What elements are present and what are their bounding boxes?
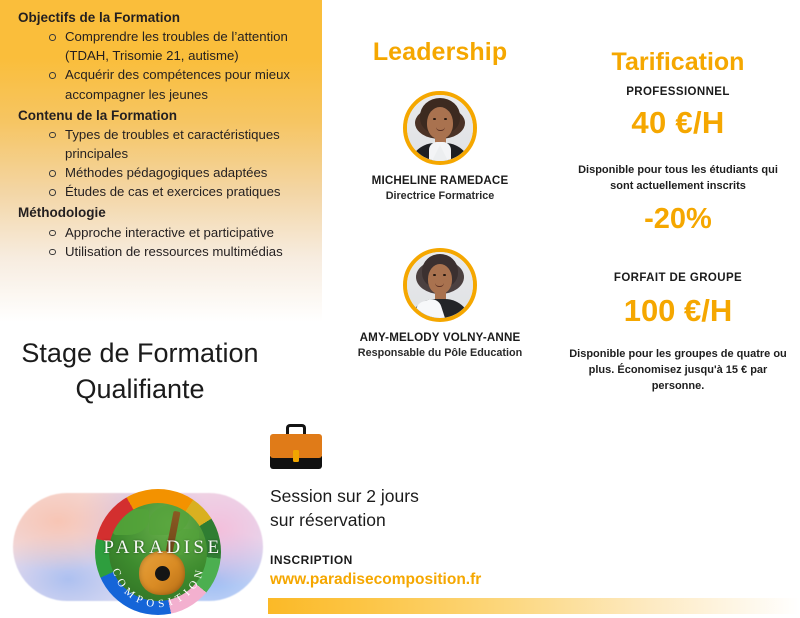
website-link[interactable]: www.paradisecomposition.fr: [270, 571, 530, 589]
session-line-1: Session sur 2 jours: [270, 485, 530, 509]
leadership-person-1: MICHELINE RAMEDACE Directrice Formatrice: [330, 91, 550, 202]
avatar: [403, 91, 477, 165]
section-list-contenu: Types de troubles et caractéristiques pr…: [48, 125, 310, 202]
page-title: Stage de Formation Qualifiante: [0, 336, 280, 408]
avatar: [403, 248, 477, 322]
pricing-tier-1-note: Disponible pour tous les étudiants qui s…: [556, 163, 800, 195]
section-list-methodologie: Approche interactive et participative Ut…: [48, 223, 310, 261]
list-item: Types de troubles et caractéristiques pr…: [48, 125, 310, 163]
section-title-contenu: Contenu de la Formation: [18, 106, 310, 125]
person-role: Responsable du Pôle Education: [330, 347, 550, 359]
briefcase-icon: [270, 424, 322, 471]
pricing-title: Tarification: [556, 48, 800, 77]
list-item: Utilisation de ressources multimédias: [48, 242, 310, 261]
registration-block: Session sur 2 jours sur réservation INSC…: [270, 424, 530, 589]
leadership-title: Leadership: [330, 38, 550, 67]
leadership-person-2: AMY-MELODY VOLNY-ANNE Responsable du Pôl…: [330, 248, 550, 359]
person-name: AMY-MELODY VOLNY-ANNE: [330, 331, 550, 344]
program-details-panel: Objectifs de la Formation Comprendre les…: [0, 0, 322, 322]
paradise-composition-logo: COMPOSITION PARADISE: [13, 489, 263, 607]
list-item: Approche interactive et participative: [48, 223, 310, 242]
footer-accent-bar: [268, 598, 800, 614]
person-role: Directrice Formatrice: [330, 190, 550, 202]
brochure-page: Objectifs de la Formation Comprendre les…: [0, 0, 800, 618]
pricing-tier-2-price: 100 €/H: [556, 293, 800, 329]
pricing-tier-1-price: 40 €/H: [556, 105, 800, 141]
leadership-column: Leadership MICHELINE RAMEDACE Directrice…: [330, 0, 550, 359]
list-item: Méthodes pédagogiques adaptées: [48, 163, 310, 182]
person-name: MICHELINE RAMEDACE: [330, 174, 550, 187]
list-item: Études de cas et exercices pratiques: [48, 182, 310, 201]
list-item: Comprendre les troubles de l’attention (…: [48, 27, 310, 65]
pricing-tier-1-label: PROFESSIONNEL: [556, 86, 800, 98]
section-list-objectifs: Comprendre les troubles de l’attention (…: [48, 27, 310, 104]
list-item: Acquérir des compétences pour mieux acco…: [48, 65, 310, 103]
section-title-methodologie: Méthodologie: [18, 203, 310, 222]
pricing-discount-badge: -20%: [556, 203, 800, 236]
session-line-2: sur réservation: [270, 509, 530, 533]
pricing-column: Tarification PROFESSIONNEL 40 €/H Dispon…: [556, 0, 800, 395]
pricing-tier-2-label: FORFAIT DE GROUPE: [556, 272, 800, 284]
logo-guitar-artwork: [109, 503, 207, 601]
section-title-objectifs: Objectifs de la Formation: [18, 8, 310, 27]
logo-color-ring: [95, 489, 221, 615]
inscription-label: INSCRIPTION: [270, 553, 530, 567]
pricing-tier-2-note: Disponible pour les groupes de quatre ou…: [556, 347, 800, 395]
guitar-soundhole-icon: [155, 566, 170, 581]
